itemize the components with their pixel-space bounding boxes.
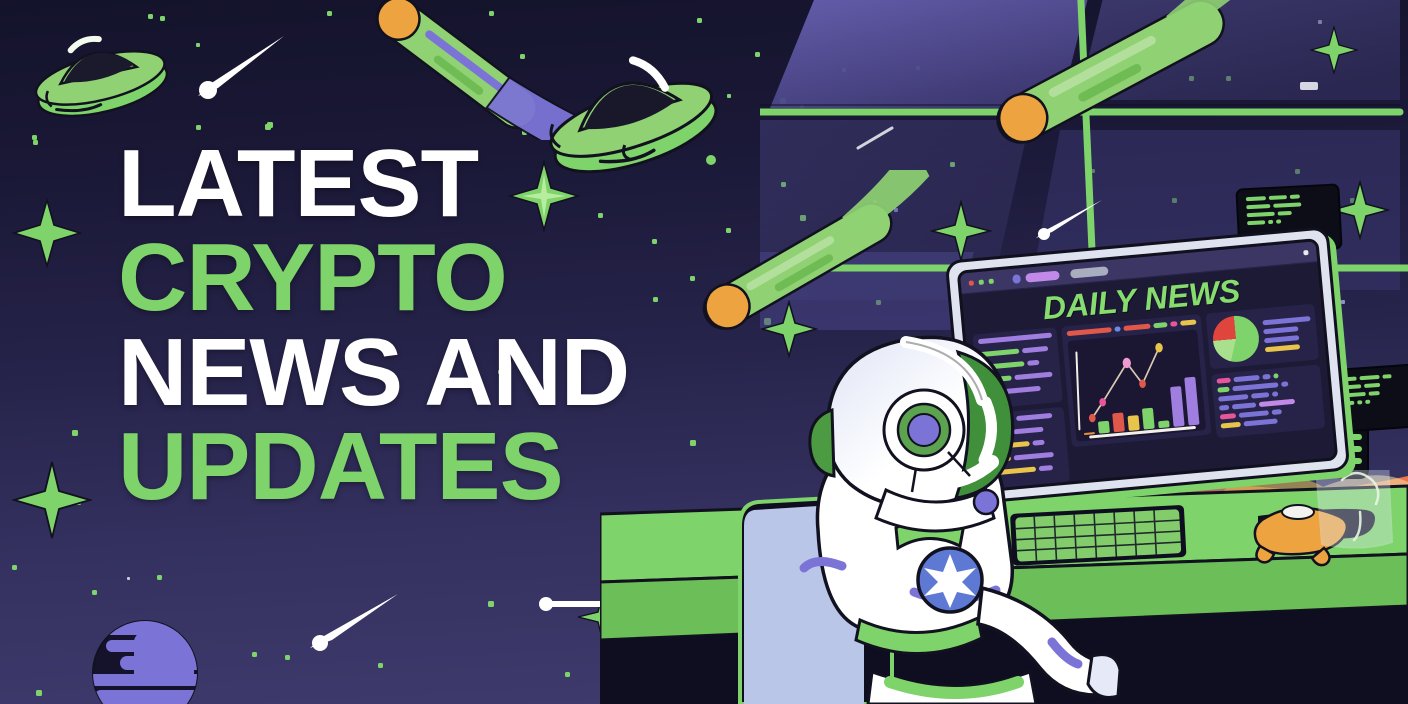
browser-tab-active[interactable] — [1025, 270, 1060, 282]
window-minimize-dot[interactable] — [979, 279, 984, 284]
shooting-star-icon — [300, 590, 410, 662]
astronaut-figure — [700, 290, 1120, 704]
bar-6 — [1158, 421, 1170, 429]
comet-icon — [950, 0, 1280, 170]
window-close-dot[interactable] — [969, 280, 974, 285]
ufo-icon — [20, 22, 180, 132]
bar-4 — [1127, 415, 1139, 431]
headline-line-1: LATEST — [118, 140, 758, 228]
shooting-star-icon — [188, 32, 298, 112]
dashboard-right-column — [1206, 304, 1326, 434]
shooting-star-icon — [1030, 196, 1110, 248]
headline-line-2: CRYPTO — [118, 234, 758, 322]
pie-chart — [1211, 314, 1261, 364]
panel-list[interactable] — [1211, 364, 1325, 438]
planet-icon — [90, 618, 200, 704]
browser-tab-indicator[interactable] — [1012, 274, 1021, 284]
bar-5 — [1142, 407, 1155, 429]
panel-pie[interactable] — [1206, 304, 1320, 370]
hero-banner: LATEST CRYPTO NEWS AND UPDATES — [0, 0, 1408, 704]
browser-menu-dot[interactable] — [1303, 249, 1308, 254]
headline-line-4: UPDATES — [118, 423, 758, 511]
page-title: LATEST CRYPTO NEWS AND UPDATES — [118, 140, 758, 517]
headline-line-3: NEWS AND — [118, 329, 758, 417]
window-maximize-dot[interactable] — [988, 278, 993, 283]
address-bar[interactable] — [1070, 266, 1109, 278]
bar-7 — [1170, 386, 1185, 427]
